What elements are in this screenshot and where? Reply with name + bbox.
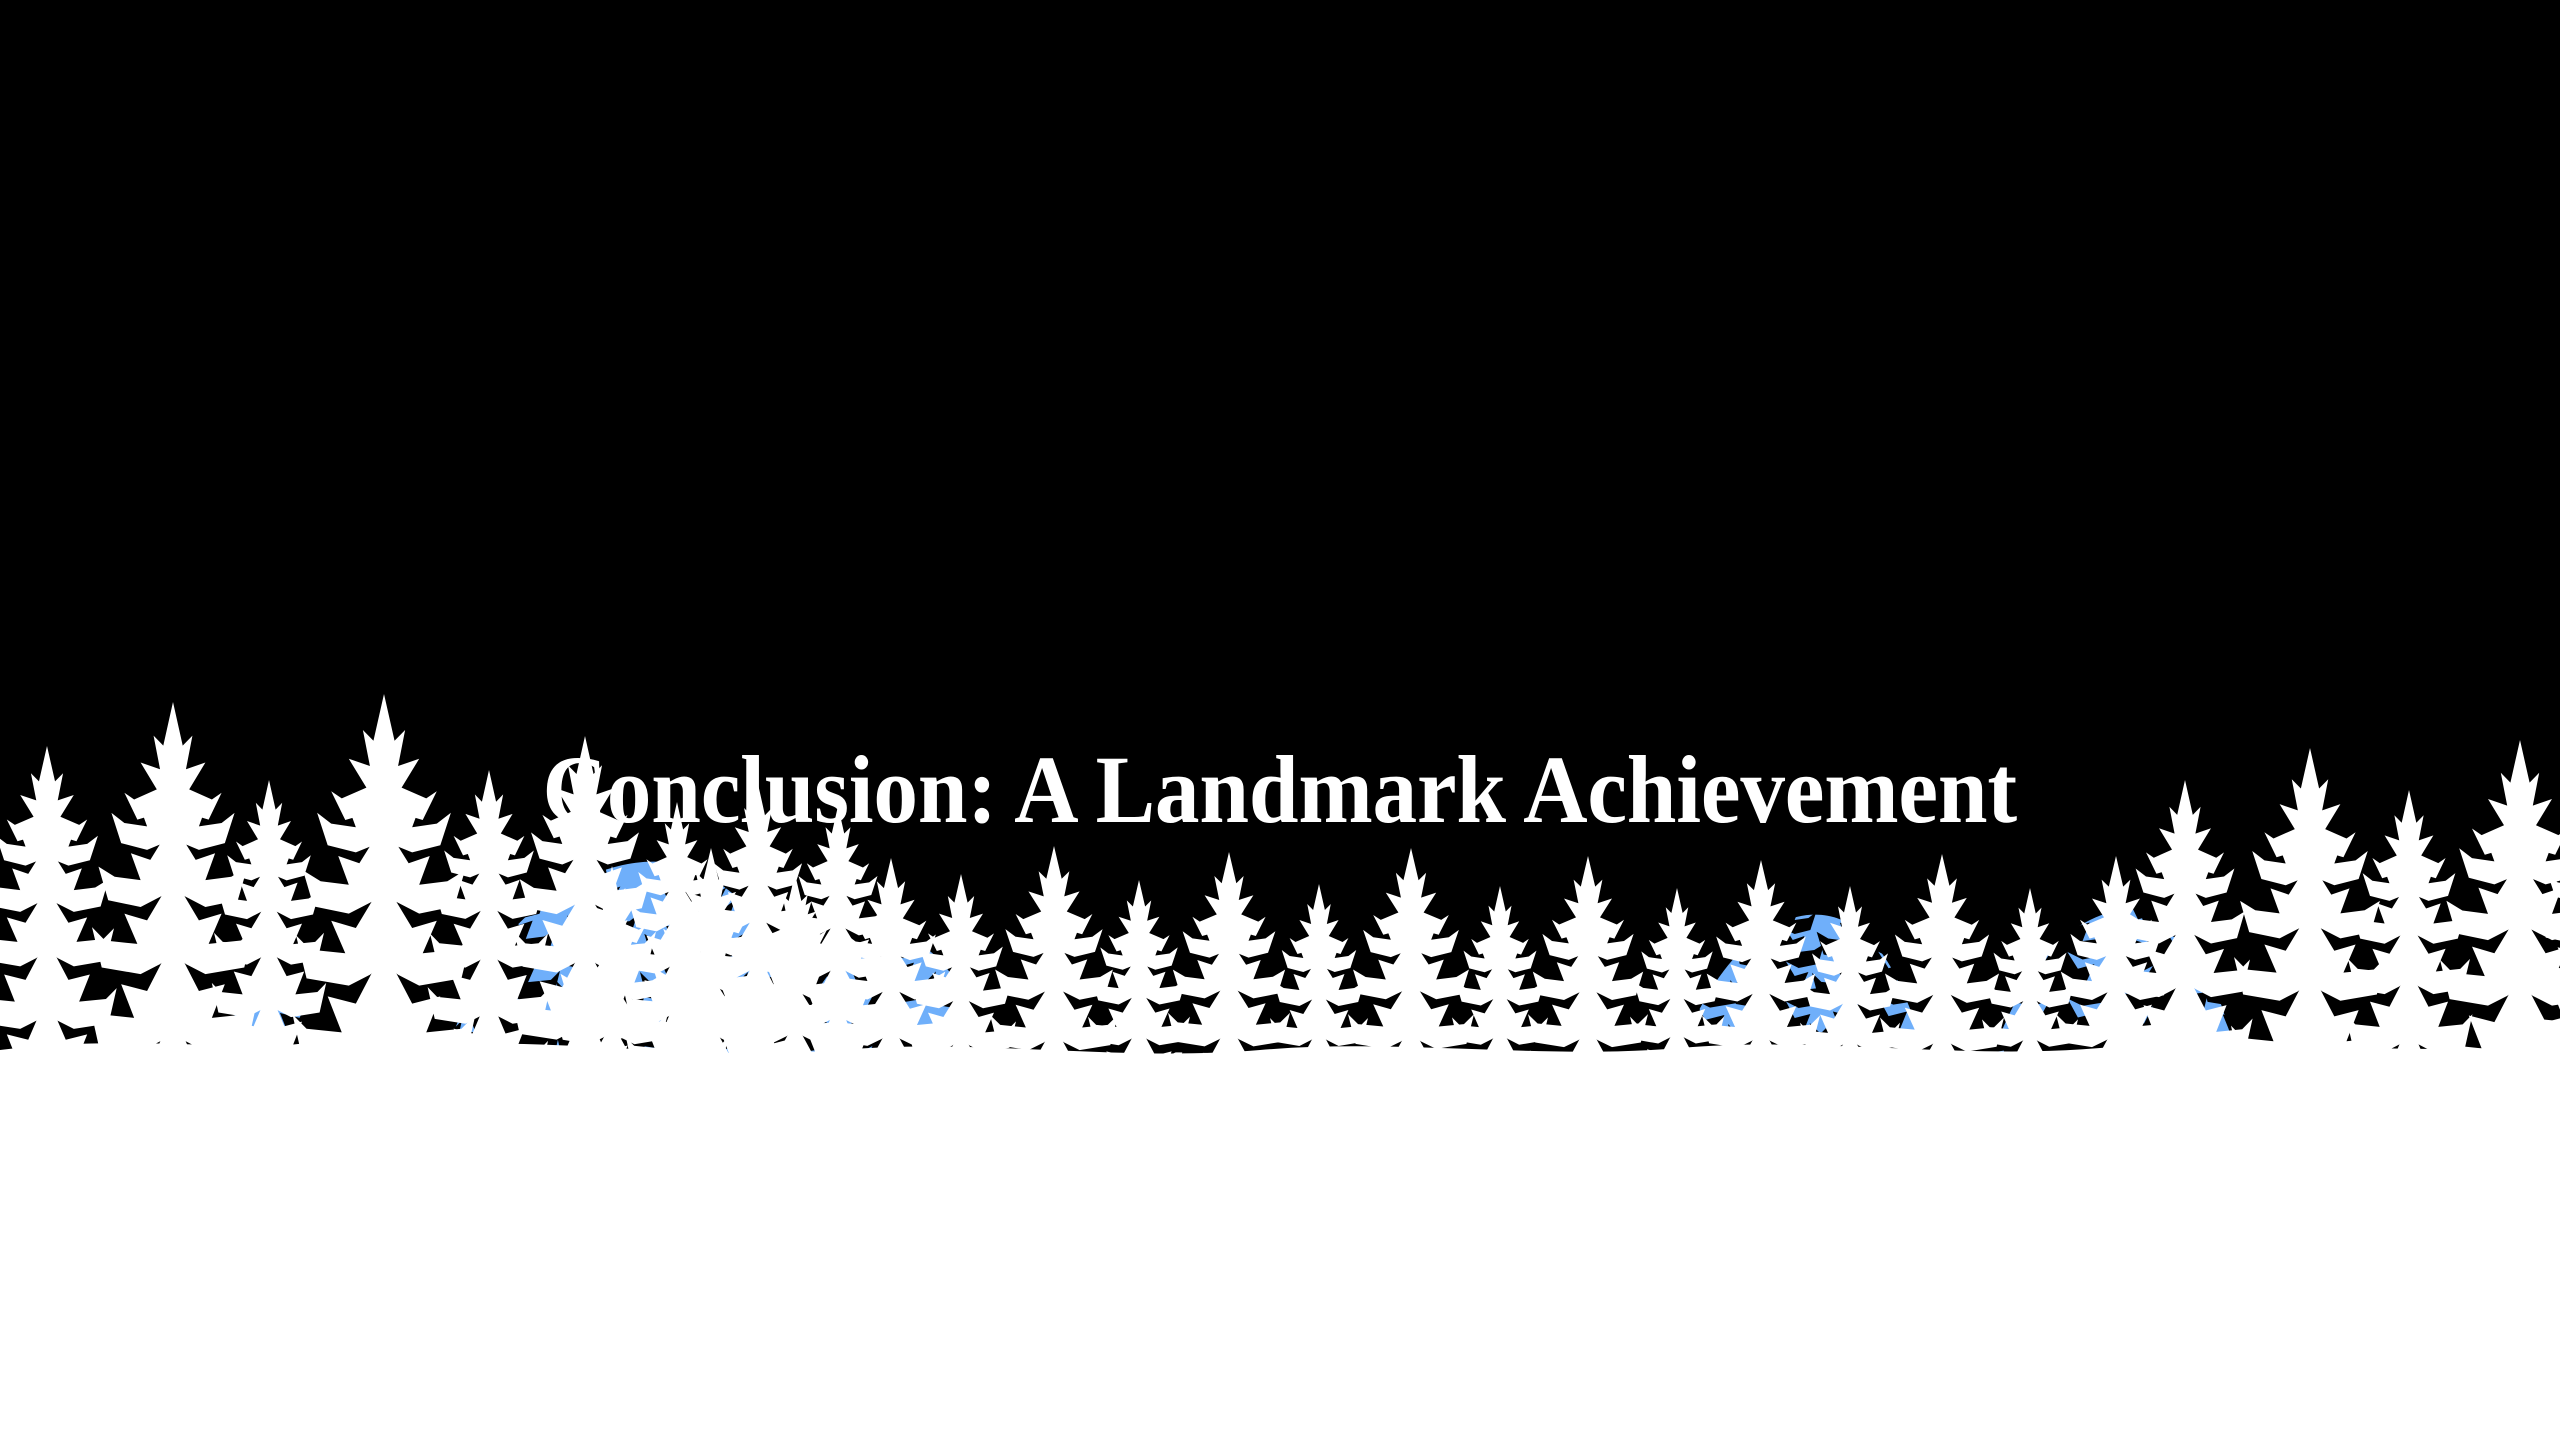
winter-forest-artwork — [0, 0, 2560, 1440]
snow-overlay — [0, 1043, 2560, 1440]
title-slide: Conclusion: A Landmark Achievement — [0, 0, 2560, 1440]
